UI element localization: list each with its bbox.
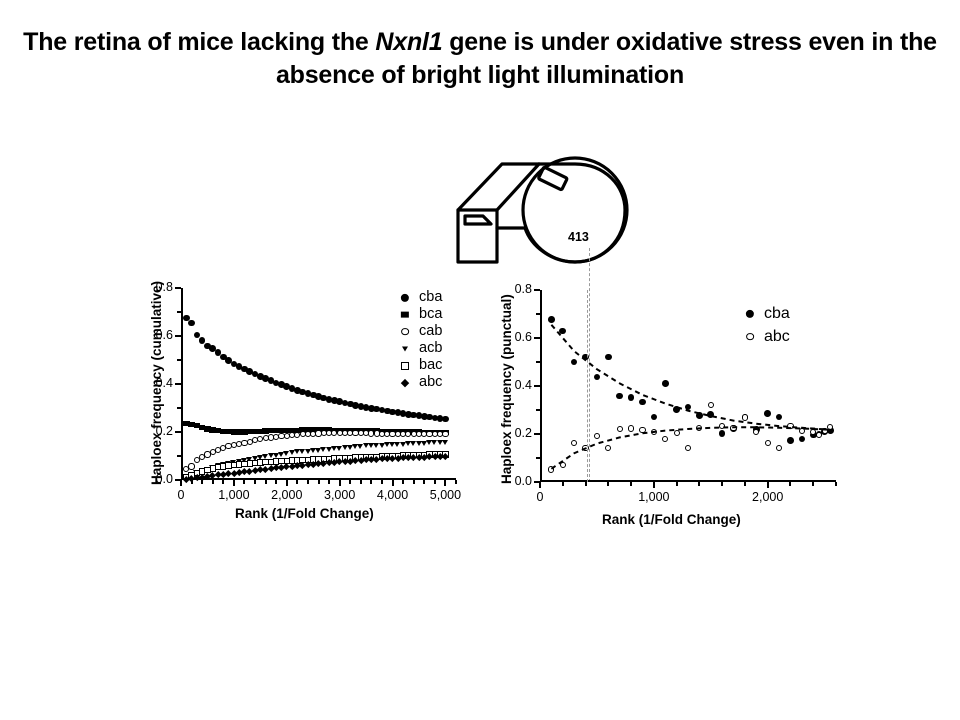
data-point-filled-circle — [764, 410, 771, 417]
legend-label: abc — [764, 329, 790, 345]
x-minor-tick — [455, 480, 457, 484]
data-point-open-circle — [560, 462, 566, 468]
left-chart-legend: cbabcacabacbbacabc — [398, 289, 442, 391]
legend-marker-filled-triangle-down-icon — [398, 342, 412, 356]
page-title-gene-name: Nxnl1 — [375, 28, 442, 56]
x-tick — [539, 482, 541, 488]
y-minor-tick — [177, 455, 181, 457]
rank-marker-line-inplot — [587, 290, 588, 482]
data-point-filled-circle — [616, 393, 623, 400]
x-minor-tick — [360, 480, 362, 484]
y-tick-label: 0.2 — [496, 426, 532, 440]
page-title: The retina of mice lacking the Nxnl1 gen… — [20, 26, 940, 92]
x-minor-tick — [275, 480, 277, 484]
data-point-open-circle — [651, 429, 657, 435]
whistle-rank-label: 413 — [568, 230, 589, 244]
x-minor-tick — [698, 482, 700, 486]
x-minor-tick — [318, 480, 320, 484]
x-minor-tick — [328, 480, 330, 484]
legend-marker-filled-diamond-icon — [398, 376, 412, 390]
x-tick — [392, 480, 394, 486]
y-tick — [534, 337, 540, 339]
x-minor-tick — [296, 480, 298, 484]
legend-label: bca — [419, 307, 442, 322]
y-tick-label: 0.0 — [137, 472, 173, 486]
y-minor-tick — [177, 311, 181, 313]
legend-item-cba[interactable]: cba — [743, 302, 790, 325]
y-tick-label: 0.6 — [496, 330, 532, 344]
chart-cumulative-haploex: Haploex frequency (cumulative) Rank (1/F… — [140, 275, 480, 530]
y-minor-tick — [536, 313, 540, 315]
x-minor-tick — [413, 480, 415, 484]
x-minor-tick — [562, 482, 564, 486]
legend-label: cab — [419, 324, 442, 339]
data-point-filled-circle — [639, 399, 646, 406]
legend-item-acb[interactable]: acb — [398, 340, 442, 357]
data-point-open-square — [401, 362, 409, 370]
x-tick-label: 0 — [155, 488, 207, 502]
data-point-filled-circle — [628, 394, 635, 401]
data-point-open-circle — [442, 431, 448, 437]
x-minor-tick — [370, 480, 372, 484]
x-minor-tick — [812, 482, 814, 486]
data-point-open-circle — [188, 463, 194, 469]
legend-item-abc[interactable]: abc — [398, 374, 442, 391]
legend-label: acb — [419, 341, 442, 356]
legend-item-bac[interactable]: bac — [398, 357, 442, 374]
y-tick-label: 0.0 — [496, 474, 532, 488]
x-minor-tick — [307, 480, 309, 484]
data-point-filled-circle — [188, 320, 195, 327]
x-minor-tick — [381, 480, 383, 484]
x-minor-tick — [744, 482, 746, 486]
data-point-filled-circle — [707, 411, 714, 418]
x-tick-label: 3,000 — [314, 488, 366, 502]
x-tick-label: 2,000 — [742, 490, 794, 504]
data-point-filled-circle — [442, 416, 449, 423]
y-tick — [175, 335, 181, 337]
y-tick — [534, 385, 540, 387]
data-point-open-circle — [401, 328, 409, 336]
right-chart-plot-area — [540, 290, 836, 482]
y-tick-label: 0.2 — [137, 424, 173, 438]
legend-item-cab[interactable]: cab — [398, 323, 442, 340]
legend-marker-open-square-icon — [398, 359, 412, 373]
data-point-filled-square — [401, 311, 409, 318]
y-tick-label: 0.8 — [496, 282, 532, 296]
legend-item-cba[interactable]: cba — [398, 289, 442, 306]
x-minor-tick — [585, 482, 587, 486]
legend-label: abc — [419, 375, 442, 390]
whistle-icon — [455, 148, 655, 273]
data-point-filled-circle — [787, 437, 794, 444]
legend-label: bac — [419, 358, 442, 373]
x-tick-label: 4,000 — [367, 488, 419, 502]
x-tick — [653, 482, 655, 488]
right-chart-legend: cbaabc — [743, 302, 790, 348]
x-minor-tick — [789, 482, 791, 486]
y-tick — [175, 287, 181, 289]
data-point-open-circle — [730, 425, 736, 431]
legend-marker-filled-circle-icon — [743, 307, 757, 321]
chart-punctual-haploex: Haploex frequency (punctual) Rank (1/Fol… — [490, 280, 840, 535]
data-point-filled-circle — [746, 309, 754, 317]
x-minor-tick — [265, 480, 267, 484]
x-tick — [233, 480, 235, 486]
x-minor-tick — [676, 482, 678, 486]
page-title-part1: The retina of mice lacking the — [23, 28, 375, 56]
data-point-open-circle — [617, 426, 623, 432]
legend-item-abc[interactable]: abc — [743, 325, 790, 348]
x-minor-tick — [721, 482, 723, 486]
legend-item-bca[interactable]: bca — [398, 306, 442, 323]
right-chart-x-axis-title: Rank (1/Fold Change) — [602, 512, 741, 527]
y-tick-label: 0.4 — [137, 376, 173, 390]
data-point-open-circle — [746, 333, 754, 341]
data-point-filled-circle — [605, 354, 612, 361]
x-minor-tick — [607, 482, 609, 486]
x-minor-tick — [243, 480, 245, 484]
x-tick-label: 1,000 — [628, 490, 680, 504]
y-tick-label: 0.6 — [137, 328, 173, 342]
x-tick-label: 0 — [514, 490, 566, 504]
data-point-filled-triangle-down — [442, 440, 448, 445]
data-point-filled-circle — [696, 412, 703, 419]
x-minor-tick — [212, 480, 214, 484]
data-point-filled-circle — [548, 316, 555, 323]
x-tick — [444, 480, 446, 486]
x-tick-label: 2,000 — [261, 488, 313, 502]
x-minor-tick — [349, 480, 351, 484]
y-tick — [534, 433, 540, 435]
y-tick — [534, 289, 540, 291]
x-minor-tick — [423, 480, 425, 484]
data-point-open-circle — [674, 430, 680, 436]
legend-label: cba — [764, 306, 790, 322]
x-minor-tick — [222, 480, 224, 484]
y-minor-tick — [177, 359, 181, 361]
data-point-filled-circle — [662, 380, 669, 387]
x-minor-tick — [402, 480, 404, 484]
y-tick — [175, 431, 181, 433]
data-point-open-circle — [787, 423, 793, 429]
legend-label: cba — [419, 290, 442, 305]
data-point-open-circle — [594, 433, 600, 439]
x-tick — [286, 480, 288, 486]
x-tick — [767, 482, 769, 488]
data-point-open-circle — [628, 425, 634, 431]
data-point-open-circle — [742, 414, 748, 420]
data-point-filled-diamond — [401, 378, 409, 386]
y-minor-tick — [536, 409, 540, 411]
x-minor-tick — [835, 482, 837, 486]
data-point-open-circle — [816, 432, 822, 438]
y-tick-label: 0.8 — [137, 280, 173, 294]
data-point-filled-circle — [799, 436, 806, 443]
legend-marker-filled-square-icon — [398, 308, 412, 322]
x-minor-tick — [434, 480, 436, 484]
x-tick — [339, 480, 341, 486]
y-tick-label: 0.4 — [496, 378, 532, 392]
data-point-filled-circle — [559, 328, 566, 335]
data-point-filled-circle — [401, 293, 409, 301]
x-minor-tick — [254, 480, 256, 484]
x-tick — [180, 480, 182, 486]
x-tick-label: 5,000 — [419, 488, 471, 502]
legend-marker-open-circle-icon — [398, 325, 412, 339]
data-point-open-circle — [708, 402, 714, 408]
x-tick-label: 1,000 — [208, 488, 260, 502]
y-minor-tick — [536, 457, 540, 459]
legend-marker-filled-circle-icon — [398, 291, 412, 305]
left-chart-x-axis-title: Rank (1/Fold Change) — [235, 506, 374, 521]
y-tick — [175, 383, 181, 385]
legend-marker-open-circle-icon — [743, 330, 757, 344]
y-minor-tick — [177, 407, 181, 409]
data-point-filled-triangle-down — [402, 346, 408, 351]
y-minor-tick — [536, 361, 540, 363]
x-minor-tick — [630, 482, 632, 486]
data-point-filled-circle — [673, 406, 680, 413]
